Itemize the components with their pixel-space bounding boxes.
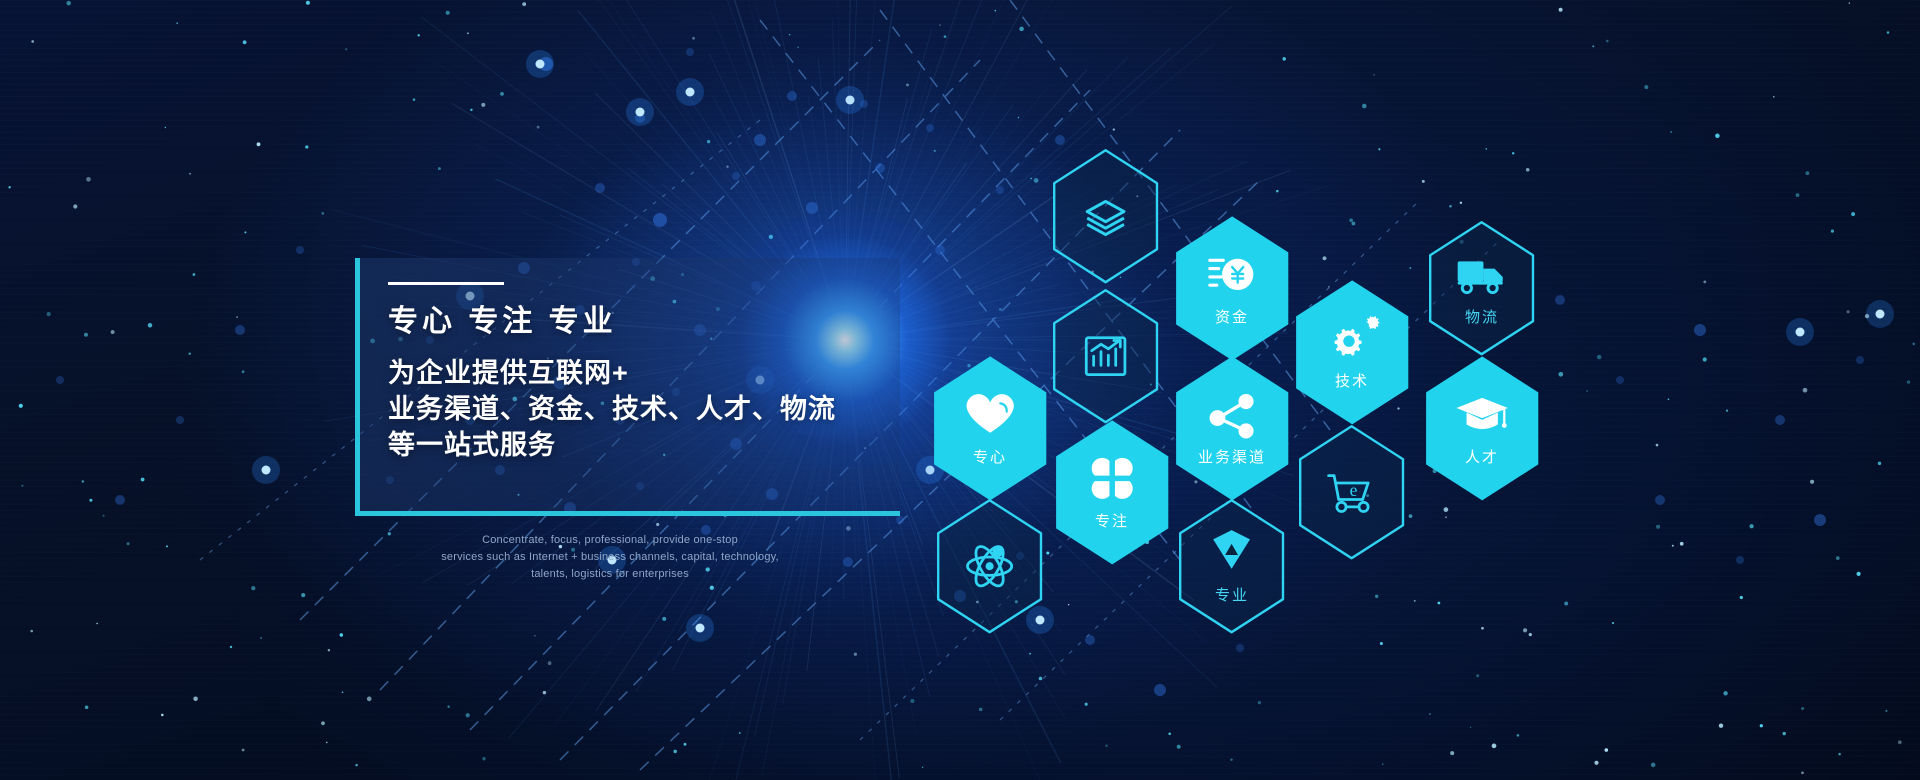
svg-text:e: e — [1350, 480, 1358, 500]
banner-stage: 专心 专注 专业 为企业提供互联网+ 业务渠道、资金、技术、人才、物流 等一站式… — [0, 0, 1920, 780]
hexagon-cluster: 资金 技术 物流 人才 — [0, 0, 1920, 780]
